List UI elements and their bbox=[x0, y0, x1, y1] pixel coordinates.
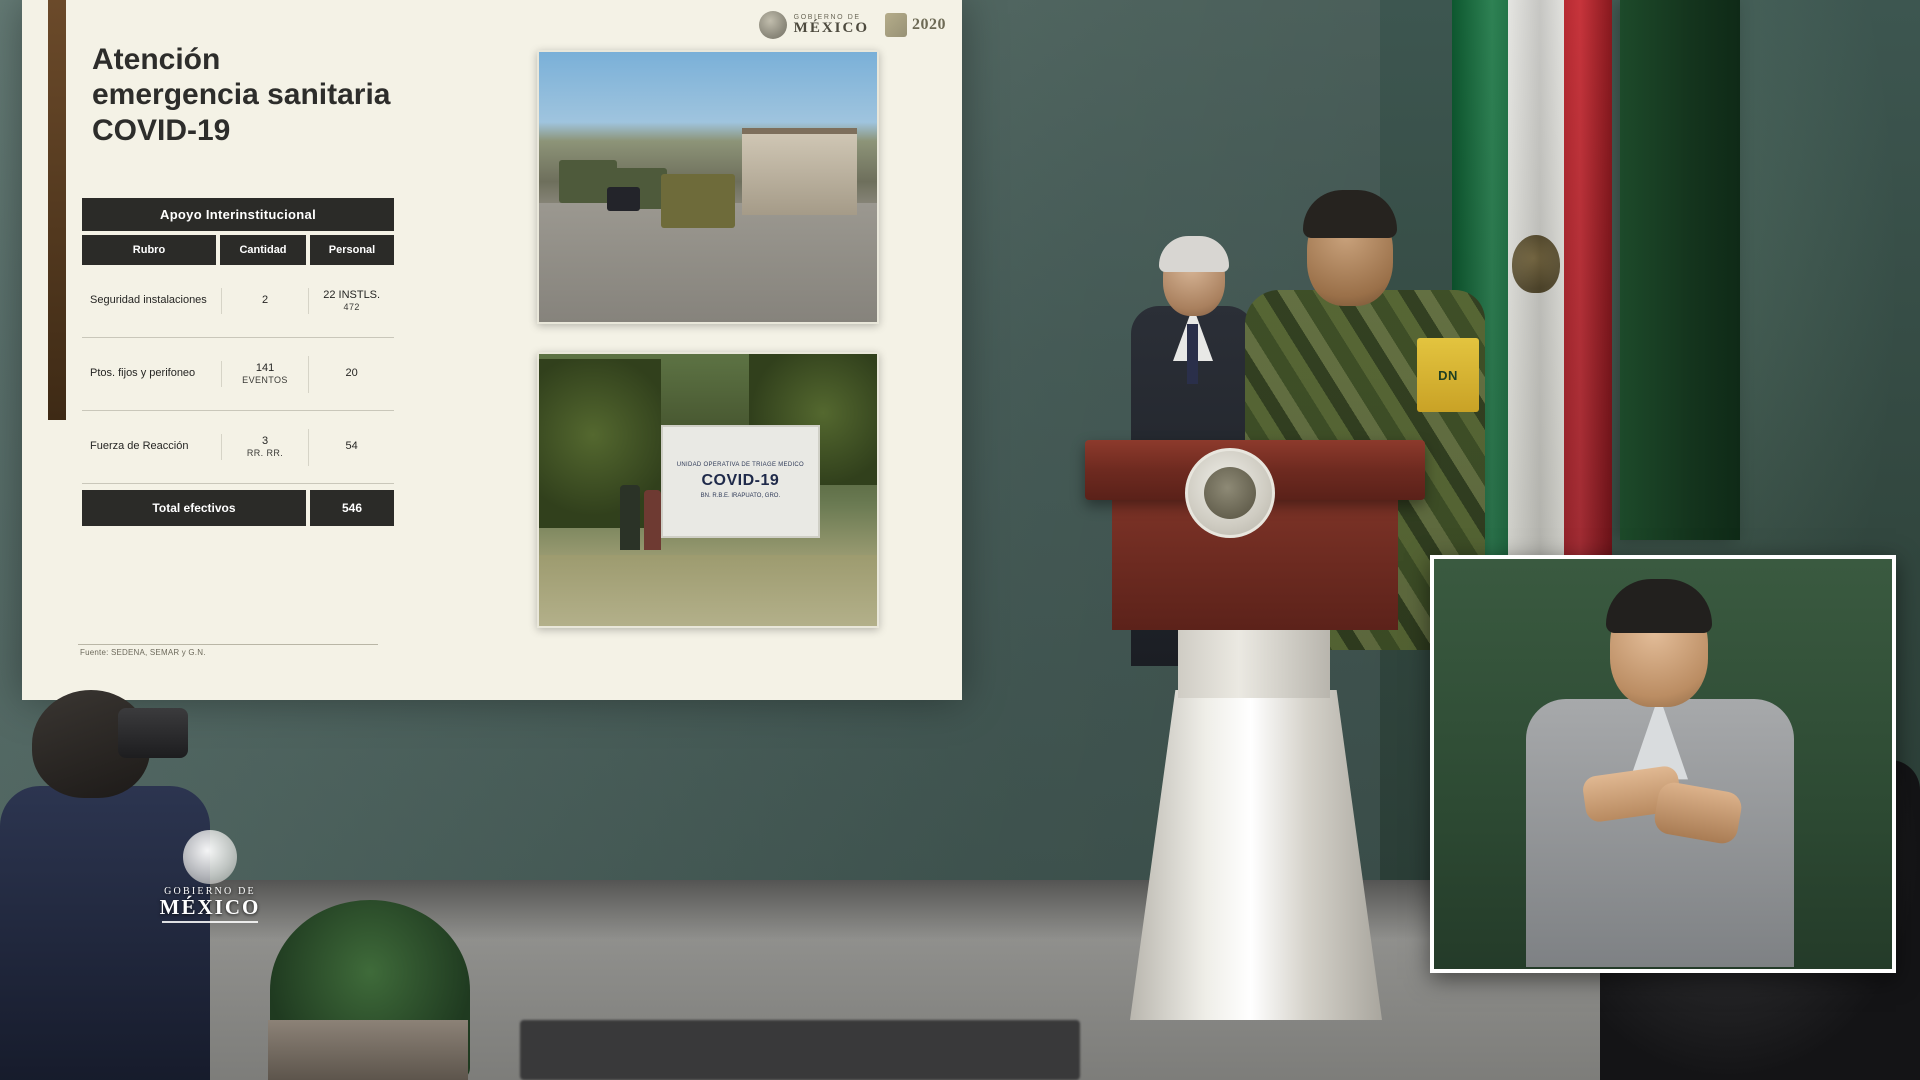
total-value: 546 bbox=[310, 490, 394, 526]
national-seal-icon bbox=[183, 830, 237, 884]
table-row: Seguridad instalaciones 2 22 INSTLS. 472 bbox=[82, 265, 394, 338]
table-header-row: Rubro Cantidad Personal bbox=[82, 235, 394, 265]
year-label: 2020 bbox=[912, 16, 946, 34]
column-header-rubro: Rubro bbox=[82, 235, 216, 265]
gobierno-mexico-watermark: GOBIERNO DE MÉXICO bbox=[150, 830, 270, 923]
camera-icon bbox=[118, 708, 188, 758]
brassard-text: DN bbox=[1438, 368, 1458, 383]
photo-covid-sign: UNIDAD OPERATIVA DE TRIAGE MEDICO COVID-… bbox=[661, 425, 820, 538]
stage-rug bbox=[520, 1020, 1080, 1080]
cell-cantidad-unit: EVENTOS bbox=[224, 375, 307, 386]
cell-rubro: Seguridad instalaciones bbox=[82, 288, 222, 314]
watermark-rule bbox=[162, 921, 258, 923]
president-tie bbox=[1187, 324, 1198, 384]
total-label: Total efectivos bbox=[82, 490, 306, 526]
photo-tree bbox=[537, 359, 661, 528]
2020-commemorative-icon bbox=[885, 13, 907, 37]
photo-ground bbox=[539, 555, 877, 626]
apoyo-interinstitucional-table: Apoyo Interinstitucional Rubro Cantidad … bbox=[82, 198, 394, 526]
cell-personal-total: 472 bbox=[311, 302, 392, 313]
cell-cantidad: 2 bbox=[222, 288, 310, 314]
green-flag bbox=[1620, 0, 1740, 540]
photo-vehicle bbox=[661, 174, 735, 228]
column-header-cantidad: Cantidad bbox=[220, 235, 306, 265]
cell-personal-value: 20 bbox=[346, 367, 358, 379]
year-commemorative-logo: 2020 bbox=[885, 13, 946, 37]
president-hair bbox=[1159, 236, 1229, 272]
military-brassard: DN bbox=[1417, 338, 1479, 412]
slide-header-logos: GOBIERNO DE MÉXICO 2020 bbox=[759, 4, 946, 46]
cell-cantidad-unit: RR. RR. bbox=[224, 448, 307, 459]
military-convoy-photo bbox=[537, 50, 879, 324]
cell-cantidad-value: 141 bbox=[256, 362, 274, 374]
cell-personal: 22 INSTLS. 472 bbox=[309, 283, 394, 320]
sign-title: COVID-19 bbox=[702, 472, 780, 490]
photo-building bbox=[742, 128, 857, 215]
gov-logo-line2: MÉXICO bbox=[794, 21, 869, 36]
source-divider bbox=[78, 644, 378, 645]
podium-column bbox=[1178, 628, 1330, 698]
national-eagle-icon bbox=[759, 11, 787, 39]
cell-cantidad-value: 3 bbox=[262, 435, 268, 447]
cell-personal-value: 22 INSTLS. bbox=[323, 289, 380, 301]
gobierno-mexico-logo: GOBIERNO DE MÉXICO bbox=[759, 11, 869, 39]
military-speaker-hair bbox=[1303, 190, 1397, 238]
photo-person bbox=[620, 485, 640, 550]
cell-rubro: Fuerza de Reacción bbox=[82, 434, 222, 460]
broadcast-stage: GOBIERNO DE MÉXICO 2020 Atención emergen… bbox=[0, 0, 1920, 1080]
sign-line-3: BN. R.B.E. IRAPUATO, GRO. bbox=[701, 493, 780, 500]
watermark-line-2: MÉXICO bbox=[150, 897, 270, 918]
presidential-seal-icon bbox=[1185, 448, 1275, 538]
table-row: Fuerza de Reacción 3 RR. RR. 54 bbox=[82, 411, 394, 484]
cell-personal: 54 bbox=[309, 434, 394, 460]
table-row: Ptos. fijos y perifoneo 141 EVENTOS 20 bbox=[82, 338, 394, 411]
cell-personal: 20 bbox=[309, 361, 394, 387]
covid-triage-sign-photo: UNIDAD OPERATIVA DE TRIAGE MEDICO COVID-… bbox=[537, 352, 879, 628]
cell-cantidad: 141 EVENTOS bbox=[222, 356, 310, 393]
column-header-personal: Personal bbox=[310, 235, 394, 265]
slide-accent-bar bbox=[48, 0, 66, 420]
cell-cantidad-value: 2 bbox=[262, 294, 268, 306]
slide-title: Atención emergencia sanitaria COVID-19 bbox=[92, 42, 392, 148]
photo-vehicle bbox=[607, 187, 641, 211]
slide-source-note: Fuente: SEDENA, SEMAR y G.N. bbox=[80, 648, 206, 657]
cell-cantidad: 3 RR. RR. bbox=[222, 429, 310, 466]
sign-language-interpreter-pip bbox=[1430, 555, 1896, 973]
table-caption: Apoyo Interinstitucional bbox=[82, 198, 394, 231]
cell-rubro: Ptos. fijos y perifoneo bbox=[82, 361, 222, 387]
cell-personal-value: 54 bbox=[346, 440, 358, 452]
presentation-slide: GOBIERNO DE MÉXICO 2020 Atención emergen… bbox=[22, 0, 962, 700]
sign-line-1: UNIDAD OPERATIVA DE TRIAGE MEDICO bbox=[677, 462, 804, 469]
table-total-row: Total efectivos 546 bbox=[82, 490, 394, 526]
photo-person bbox=[644, 490, 661, 550]
plant-pot bbox=[268, 1020, 468, 1080]
seal-inner-emblem bbox=[1204, 467, 1256, 519]
